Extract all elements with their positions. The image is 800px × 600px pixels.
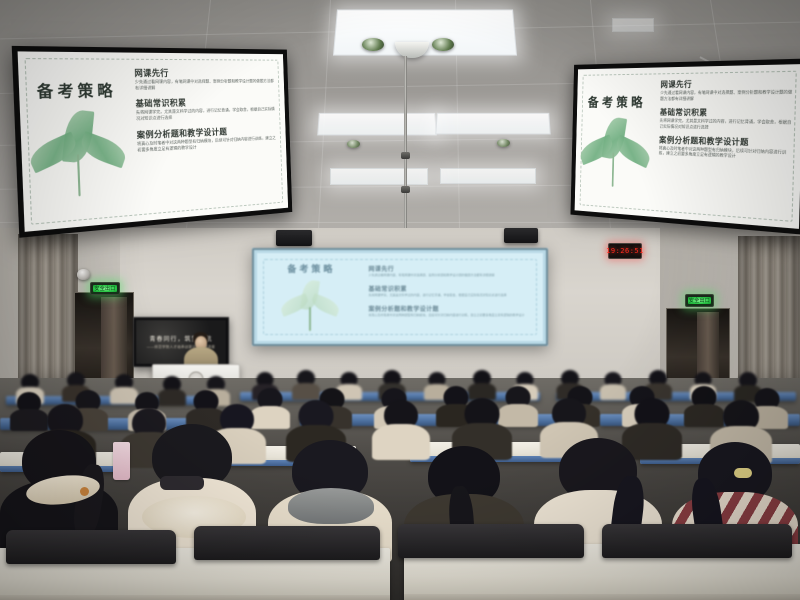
ceiling-panel-light: [317, 113, 437, 136]
window-curtain-left: [18, 234, 78, 384]
ceiling-downlight: [362, 38, 384, 51]
seat-back[interactable]: [602, 524, 792, 558]
ceiling-panel-light: [330, 168, 428, 185]
seat-back[interactable]: [194, 526, 380, 560]
audience-person: [0, 430, 118, 546]
wall-speaker-icon: [276, 230, 312, 246]
slide-section: 网课先行 少先通过看网课内容，有笔网课中对选择题、案例分析题和教学设计题的做题方…: [660, 77, 793, 101]
slide-section-body: 少先通过看网课内容，有笔网课中对选择题、案例分析题和教学设计题的做题方法都有详细…: [660, 89, 792, 102]
exit-sign-icon: 安全出口: [90, 282, 120, 295]
slide-text-area: 网课先行 少先通过看网课内容，有笔网课中对选择题、案例分析题和教学设计题的做题方…: [131, 53, 288, 222]
slide-decor-area: 备考策略: [575, 67, 659, 216]
slide-section: 案例分析题和教学设计题 将真心及时笔者中对这两种题型有归纳模块，后续可针对归纳内…: [137, 124, 277, 154]
exit-sign-icon: 安全出口: [685, 294, 714, 307]
ceiling-panel-light: [612, 18, 654, 32]
ceiling-downlight: [497, 139, 510, 147]
slide-section-body: 先将网课学完，尤其是文科学过的内容，进行记忆背诵，学会取舍，根据自己实际情况对知…: [369, 293, 532, 297]
projected-slide: 备考策略 网课先行 少先通过看网课内容，有笔网课中对选择题、案例分析题和教学设计…: [257, 253, 543, 341]
clock-time: 19:26:51: [606, 247, 644, 255]
display-screen-right: 备考策略 网课先行 少先通过看网课内容，有笔网课中对选择题、案例分析题和教学设计…: [570, 58, 800, 234]
slide-section: 网课先行 少先通过看网课内容，有笔网课中对选择题、案例分析题和教学设计题的做题方…: [369, 264, 532, 277]
projector-mount-knob: [401, 186, 410, 193]
seat-back[interactable]: [6, 530, 176, 564]
ceiling-panel-light: [440, 168, 536, 184]
projection-screen-center: 备考策略 网课先行 少先通过看网课内容，有笔网课中对选择题、案例分析题和教学设计…: [252, 248, 548, 346]
led-clock-icon: 19:26:51: [608, 243, 642, 259]
exit-sign-label: 安全出口: [93, 285, 117, 292]
leaf-plant-illustration: [278, 277, 344, 333]
slide-section: 案例分析题和教学设计题 将真心及时笔者中对这两种题型有归纳模块，后续可针对归纳内…: [659, 134, 791, 161]
slide-decor-area: 备考策略: [18, 51, 138, 231]
slide-section: 网课先行 少先通过看网课内容，有笔网课中对选择题、案例分析题和教学设计题的做题方…: [134, 67, 275, 92]
slide-decor-area: 备考策略: [257, 253, 366, 341]
dome-camera-icon: [77, 269, 90, 280]
slide-section-heading: 网课先行: [134, 67, 274, 79]
ceiling-downlight: [347, 140, 360, 148]
slide-left: 备考策略 网课先行 少先通过看网课内容，有笔网课中对选择题、案例分析题和教学设计…: [18, 51, 289, 231]
slide-section: 案例分析题和教学设计题 将真心及时笔者中对这两种题型有归纳模块，后续可针对归纳内…: [369, 304, 532, 317]
slide-section-body: 少先通过看网课内容，有笔网课中对选择题、案例分析题和教学设计题的做题方法都有详细…: [369, 273, 532, 277]
wall-speaker-icon: [504, 228, 538, 243]
ceiling-downlight: [432, 38, 454, 51]
slide-title: 备考策略: [287, 262, 335, 275]
door-leaf[interactable]: [101, 297, 127, 383]
leaf-plant-illustration: [20, 102, 137, 204]
slide-section-body: 少先通过看网课内容，有笔网课中对选择题、案例分析题和教学设计题的做题方法都有详细…: [135, 78, 275, 91]
ceiling-panel-light: [435, 113, 551, 135]
slide-section: 基础常识积累 先将网课学完，尤其是文科学过的内容，进行记忆背诵，学会取舍，根据自…: [135, 95, 276, 122]
display-screen-left: 备考策略 网课先行 少先通过看网课内容，有笔网课中对选择题、案例分析题和教学设计…: [12, 46, 293, 238]
projector-mount-knob: [401, 152, 410, 159]
lecture-hall-photo: 安全出口 安全出口 19:26:51 备考策略 网课先行: [0, 0, 800, 600]
exit-sign-label: 安全出口: [688, 297, 711, 304]
slide-section-heading: 案例分析题和教学设计题: [369, 304, 532, 313]
slide-section-body: 先将网课学完，尤其是文科学过的内容，进行记忆背诵，学会取舍，根据自己实际情况对知…: [136, 107, 276, 123]
seat-back[interactable]: [398, 524, 584, 558]
slide-title: 备考策略: [36, 79, 117, 102]
slide-text-area: 网课先行 少先通过看网课内容，有笔网课中对选择题、案例分析题和教学设计题的做题方…: [366, 253, 543, 341]
slide-section-heading: 基础常识积累: [369, 284, 532, 293]
slide-section-heading: 网课先行: [660, 77, 792, 90]
slide-section: 基础常识积累 先将网课学完，尤其是文科学过的内容，进行记忆背诵，学会取舍，根据自…: [659, 107, 792, 132]
slide-text-area: 网课先行 少先通过看网课内容，有笔网课中对选择题、案例分析题和教学设计题的做题方…: [655, 64, 800, 229]
leaf-plant-illustration: [575, 112, 658, 193]
slide-title: 备考策略: [588, 92, 647, 111]
slide-right: 备考策略 网课先行 少先通过看网课内容，有笔网课中对选择题、案例分析题和教学设计…: [575, 64, 800, 229]
window-curtain-right: [738, 236, 800, 386]
slide-section: 基础常识积累 先将网课学完，尤其是文科学过的内容，进行记忆背诵，学会取舍，根据自…: [369, 284, 532, 297]
slide-section-body: 将真心及时笔者中对这两种题型有归纳模块，后续可针对归纳内容进行训练，建立之初要多…: [369, 313, 532, 317]
slide-section-body: 先将网课学完，尤其是文科学过的内容，进行记忆背诵，学会取舍，根据自己实际情况对知…: [659, 118, 791, 132]
